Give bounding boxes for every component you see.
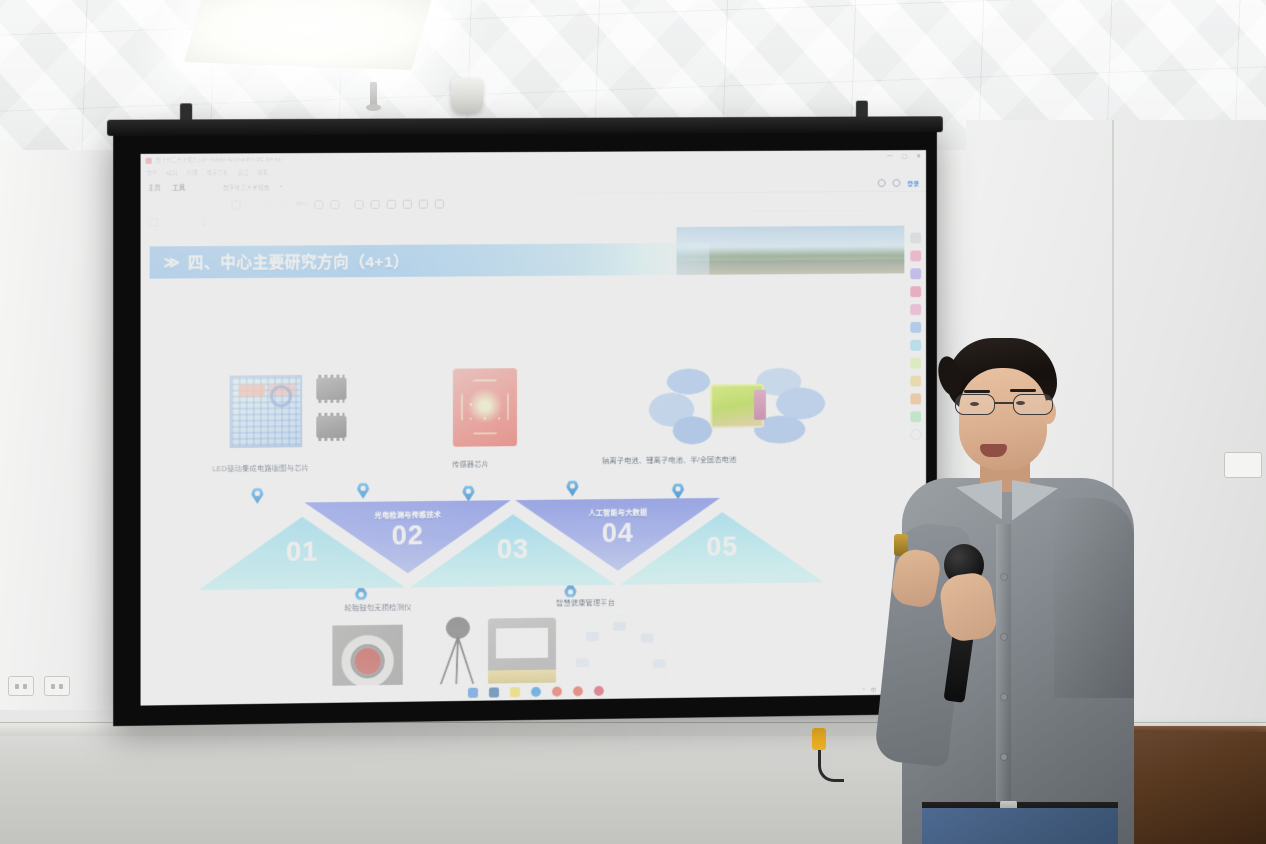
acrobat-icon[interactable]	[573, 686, 583, 696]
menu-item-view[interactable]: 视图	[187, 169, 198, 177]
instrument-panel	[496, 628, 548, 659]
tray-expand-icon[interactable]: ^	[863, 688, 865, 694]
direction-label: 光电检测与传感技术	[374, 510, 441, 521]
glasses-lens-left	[955, 394, 995, 415]
create-pdf-tool-icon[interactable]	[910, 268, 921, 279]
shirt-shading	[1054, 498, 1134, 698]
zoom-out-icon[interactable]	[264, 200, 273, 209]
highlight-icon[interactable]	[370, 199, 379, 208]
map-pin-icon	[251, 487, 264, 504]
presenter-eyebrow	[1010, 389, 1036, 392]
fullscreen-icon[interactable]	[435, 199, 444, 208]
shirt-button	[1001, 574, 1007, 580]
close-icon[interactable]: ×	[280, 184, 283, 190]
presenter-eyebrow	[964, 390, 990, 393]
document-body: ≫ 四、中心主要研究方向（4+1）	[141, 226, 927, 695]
left-navigation-rail[interactable]	[141, 230, 150, 694]
presenter-glasses	[954, 394, 1054, 416]
battery-cell	[710, 384, 764, 428]
tab-document[interactable]: 数字化工大学报告... ×	[215, 179, 291, 193]
map-pin-icon	[566, 479, 579, 496]
read-mode-icon[interactable]	[330, 200, 339, 209]
ic-package-image	[316, 378, 346, 400]
delete-icon[interactable]	[419, 199, 428, 208]
shirt-button	[1001, 634, 1007, 640]
presenter	[884, 338, 1134, 844]
wheel-hub	[599, 641, 643, 686]
slide-title-band: ≫ 四、中心主要研究方向（4+1）	[150, 243, 710, 279]
menu-item-file[interactable]: 文件	[147, 169, 158, 177]
wheel-node	[576, 658, 589, 667]
cable-plug	[812, 728, 826, 750]
direction-label: 人工智能与大数据	[588, 508, 647, 519]
chrome-icon[interactable]	[552, 686, 562, 696]
fit-page-icon[interactable]	[314, 200, 323, 209]
menu-item-edit[interactable]: 编辑	[167, 169, 178, 177]
acrobat-window: 数字化工大学报告.pdf - Adobe Acrobat Pro DC (64-…	[141, 150, 927, 706]
signin-button[interactable]: 登录	[907, 178, 919, 187]
home-icon[interactable]: ⌂	[184, 218, 192, 226]
shirt-button	[1001, 694, 1007, 700]
slide-title: 四、中心主要研究方向（4+1）	[188, 250, 409, 274]
screen-roller-casing	[107, 116, 943, 136]
toolbar-separator	[181, 199, 182, 210]
toolbar-center-group: 88%	[232, 200, 340, 210]
left-wall-column	[0, 150, 118, 710]
edge-icon[interactable]	[531, 686, 541, 696]
glasses-bridge	[995, 402, 1013, 404]
direction-number: 04	[602, 520, 634, 547]
wps-icon[interactable]	[489, 687, 499, 697]
tab-tools[interactable]: 工具	[172, 182, 185, 192]
wheel-node	[613, 622, 626, 631]
ceiling-light-panel	[184, 0, 432, 70]
ic-package-image	[316, 416, 346, 438]
wall-switch-plate[interactable]	[1224, 452, 1262, 478]
map-pin-icon	[672, 482, 685, 499]
print-icon[interactable]: ⎙	[201, 218, 209, 226]
menu-item-esign[interactable]: 电子签名	[207, 169, 229, 177]
ime-language-icon[interactable]: 中	[871, 687, 876, 694]
caption-health-platform: 智慧健康管理平台	[556, 597, 615, 609]
battery-products-collage-image	[649, 367, 826, 444]
bookmark-star-icon[interactable]: ☆	[167, 218, 175, 226]
zoom-level[interactable]: 88%	[296, 201, 307, 207]
zoom-in-icon[interactable]	[280, 200, 289, 209]
smoke-detector	[451, 78, 483, 114]
presenter-jeans	[922, 808, 1118, 844]
direction-label: 集成电子电路开发与设计	[261, 605, 343, 616]
research-directions-row: 01 集成电子电路开发与设计 光电检测与传感技术 02 03 半导体器件与加工技…	[198, 496, 897, 590]
print-icon[interactable]	[165, 201, 174, 210]
direction-number: 05	[706, 534, 738, 561]
led-driver-ic-layout-image	[230, 375, 303, 448]
help-icon[interactable]	[878, 179, 886, 187]
save-icon[interactable]	[149, 201, 158, 210]
direction-number: 01	[286, 538, 318, 565]
stamp-icon[interactable]	[387, 199, 396, 208]
tab-document-label: 数字化工大学报告...	[223, 182, 275, 191]
detection-instrument-image	[488, 618, 556, 693]
minimize-button[interactable]: —	[887, 153, 893, 160]
user-icon[interactable]	[893, 179, 901, 187]
caption-tire-detector: 轮胎鼓包无损检测仪	[344, 601, 411, 613]
projection-screen-frame: 数字化工大学报告.pdf - Adobe Acrobat Pro DC (64-…	[113, 126, 937, 726]
chevron-right-icon: ≫	[164, 253, 177, 271]
wheel-node	[653, 659, 666, 668]
select-tool-icon[interactable]	[232, 200, 241, 209]
campus-aerial-photo	[677, 226, 905, 275]
comment-icon[interactable]	[354, 199, 363, 208]
thumbnails-icon[interactable]	[150, 218, 158, 226]
slide-content: ≫ 四、中心主要研究方向（4+1）	[150, 226, 905, 695]
file-explorer-icon[interactable]	[468, 687, 478, 697]
comment-tool-icon[interactable]	[910, 304, 921, 315]
sprinkler-head	[370, 82, 377, 110]
map-pin-icon	[357, 482, 370, 499]
caption-led-chip: LED驱动集成电路版图与芯片	[212, 462, 309, 474]
camera-tripod-image	[435, 617, 481, 695]
caption-batteries: 钠离子电池、锂离子电池、半/全固态电池	[602, 454, 736, 466]
close-button[interactable]: ✕	[916, 153, 921, 160]
notes-icon[interactable]	[510, 687, 520, 697]
sensor-die-star	[470, 389, 500, 419]
direction-label: 半导体器件与加工技术	[476, 603, 550, 614]
tab-home[interactable]: 主页	[148, 182, 161, 192]
presenter-mouth	[980, 444, 1007, 457]
search-tool-icon[interactable]	[910, 233, 921, 244]
direction-number: 03	[497, 536, 529, 563]
direction-number: 02	[392, 522, 424, 549]
pdf-app-icon[interactable]	[594, 685, 604, 695]
hand-tool-icon[interactable]	[248, 200, 257, 209]
wheel-node	[586, 632, 599, 641]
rotate-icon[interactable]	[403, 199, 412, 208]
shirt-placket	[996, 524, 1011, 844]
export-pdf-tool-icon[interactable]	[910, 250, 921, 261]
pdf-page-area[interactable]: ≫ 四、中心主要研究方向（4+1）	[150, 226, 905, 695]
battery-bubble	[673, 416, 713, 444]
map-pin-icon	[462, 485, 475, 502]
menu-item-window[interactable]: 窗口	[238, 168, 249, 176]
window-controls: — ▢ ✕	[887, 153, 921, 160]
conference-room-scene: 数字化工大学报告.pdf - Adobe Acrobat Pro DC (64-…	[0, 0, 1266, 844]
projected-screen-surface: 数字化工大学报告.pdf - Adobe Acrobat Pro DC (64-…	[141, 150, 927, 706]
glasses-lens-right	[1013, 394, 1053, 415]
menu-item-help[interactable]: 帮助	[258, 168, 269, 176]
maximize-button[interactable]: ▢	[902, 153, 908, 160]
wall-socket[interactable]	[8, 676, 34, 696]
caption-sensor-chip: 传感器芯片	[452, 458, 489, 469]
edit-pdf-tool-icon[interactable]	[910, 286, 921, 297]
fill-sign-tool-icon[interactable]	[910, 322, 921, 333]
search-icon[interactable]: ⌕	[218, 218, 226, 226]
battery-bubble	[667, 368, 711, 394]
toolbar-separator	[346, 199, 347, 210]
sensor-chip-die-image	[453, 368, 517, 447]
shirt-button	[1001, 754, 1007, 760]
wall-socket[interactable]	[44, 676, 70, 696]
acrobat-icon	[146, 157, 152, 163]
signin-area: 登录	[878, 178, 919, 187]
window-title: 数字化工大学报告.pdf - Adobe Acrobat Pro DC (64-…	[156, 156, 282, 164]
wheel-node	[641, 633, 654, 642]
